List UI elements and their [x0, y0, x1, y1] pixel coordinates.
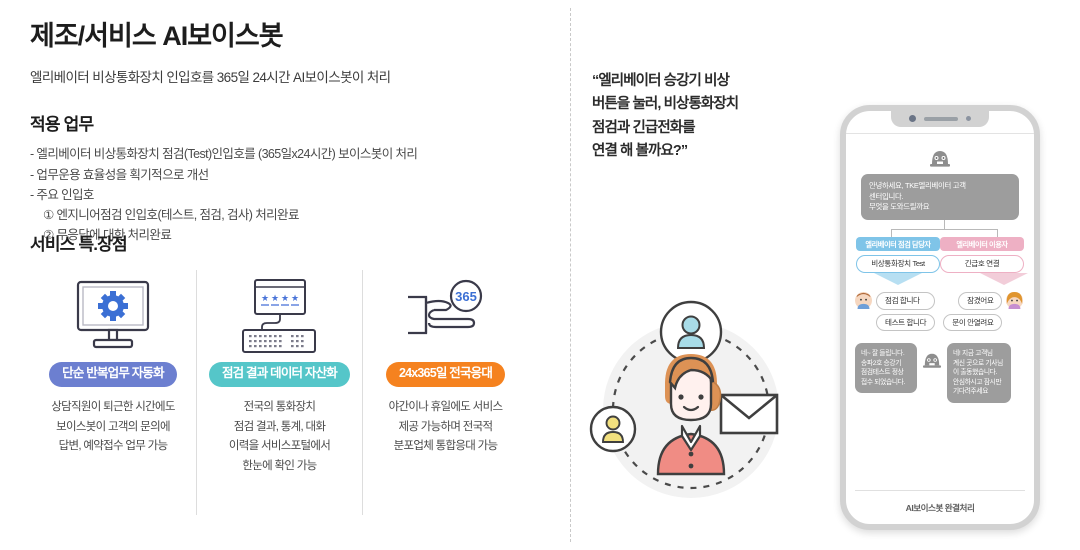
user-avatar-girl-icon — [1006, 292, 1023, 309]
branch-options: 엘리베이터 점검 담당자 비상통화장치 Test 엘리베이터 이용자 긴급호 연… — [855, 237, 1025, 273]
connector-line — [891, 229, 997, 230]
list-item: - 주요 인입호 — [30, 185, 550, 205]
svg-text:★: ★ — [261, 294, 269, 304]
quote-text: “엘리베이터 승강기 비상버튼을 눌러, 비상통화장치점검과 긴급전화를연결 해… — [592, 70, 842, 164]
agent-network-illustration — [578, 292, 808, 522]
phone-screen: 안녕하세요, TKE엘리베이터 고객센터입니다.무엇을 도와드릴까요 엘리베이터… — [846, 133, 1034, 514]
feature-description: 상담직원이 퇴근한 시간에도보이스봇이 고객의 문의에답변, 예약접수 업무 가… — [51, 398, 175, 457]
phone-notch — [891, 110, 989, 127]
message-bubble: 점검 합니다 — [876, 292, 935, 310]
inspector-messages: 점검 합니다 테스트 합니다 — [876, 292, 935, 331]
final-bubble-right: 네! 지금 고객님계신 곳으로 기사님이 출동했습니다.안심하시고 잠시만기다려… — [947, 343, 1011, 403]
feature-card-list: 단순 반복업무 자동화 상담직원이 퇴근한 시간에도보이스봇이 고객의 문의에답… — [30, 270, 530, 515]
svg-text:★: ★ — [281, 294, 289, 304]
hand-365-icon: 365 — [396, 270, 496, 362]
envelope-icon — [721, 395, 777, 433]
arrow-down-icon — [980, 273, 1028, 285]
feature-card-data-asset: ★★★★ — [196, 270, 362, 515]
left-column: 제조/서비스 AI보이스봇 엘리베이터 비상통화장치 인입호를 365일 24시… — [30, 20, 550, 246]
arrow-down-icon — [874, 273, 922, 285]
status-badge: 단순 반복업무 자동화 — [49, 362, 177, 387]
apply-section-heading: 적용 업무 — [30, 110, 550, 135]
connector-line — [891, 229, 892, 237]
list-item: - 업무운용 효율성을 획기적으로 개선 — [30, 165, 550, 185]
phone-mockup: 안녕하세요, TKE엘리베이터 고객센터입니다.무엇을 도와드릴까요 엘리베이터… — [840, 105, 1040, 530]
list-item: ① 엔지니어점검 인입호(테스트, 점검, 검사) 처리완료 — [30, 205, 550, 225]
slide-root: 제조/서비스 AI보이스봇 엘리베이터 비상통화장치 인입호를 365일 24시… — [0, 0, 1080, 550]
feature-description: 야간이나 휴일에도 서비스제공 가능하며 전국적분포업체 통합응대 가능 — [389, 398, 503, 457]
camera-icon — [909, 115, 916, 122]
vertical-divider — [570, 8, 571, 542]
branch-left: 엘리베이터 점검 담당자 비상통화장치 Test — [856, 237, 940, 273]
connector-line — [997, 229, 998, 237]
option-button-test[interactable]: 비상통화장치 Test — [856, 255, 940, 273]
page-title: 제조/서비스 AI보이스봇 — [30, 20, 550, 52]
bot-avatar-icon — [922, 351, 942, 369]
flow-arrows — [855, 273, 1025, 289]
bot-avatar-icon — [855, 148, 1025, 168]
role-tag-inspector: 엘리베이터 점검 담당자 — [856, 237, 940, 251]
user-messages: 잠겼어요 문이 안열려요 — [943, 292, 1002, 331]
branch-connector — [855, 220, 1025, 237]
svg-text:★: ★ — [271, 294, 279, 304]
final-bubble-left: 네~ 잘 들립니다.송파2호 승강기점검테스트 정상접수 되었습니다. — [855, 343, 917, 393]
option-button-emergency[interactable]: 긴급호 연결 — [940, 255, 1024, 273]
final-response-row: 네~ 잘 들립니다.송파2호 승강기점검테스트 정상접수 되었습니다. 네! 지… — [855, 343, 1025, 403]
list-item: - 엘리베이터 비상통화장치 점검(Test)인입호를 (365일x24시간) … — [30, 144, 550, 164]
branch-right: 엘리베이터 이용자 긴급호 연결 — [940, 237, 1024, 273]
monitor-gear-icon — [70, 270, 156, 362]
feature-card-24x365: 365 24x365일 전국응대 야간이나 휴일에도 서비스제공 가능하며 전국… — [362, 270, 528, 515]
user-messages-row: 점검 합니다 테스트 합니다 잠겼어요 문이 안열려요 — [855, 292, 1025, 331]
bot-greeting-bubble: 안녕하세요, TKE엘리베이터 고객센터입니다.무엇을 도와드릴까요 — [861, 174, 1019, 220]
sensor-icon — [966, 116, 971, 121]
page-subtitle: 엘리베이터 비상통화장치 인입호를 365일 24시간 AI보이스봇이 처리 — [30, 66, 550, 86]
phone-footer-label: AI보이스봇 완결처리 — [855, 490, 1025, 514]
monitor-keyboard-icon: ★★★★ — [235, 270, 325, 362]
feature-card-automation: 단순 반복업무 자동화 상담직원이 퇴근한 시간에도보이스봇이 고객의 문의에답… — [30, 270, 196, 515]
message-bubble: 테스트 합니다 — [876, 314, 935, 332]
message-bubble: 문이 안열려요 — [943, 314, 1002, 332]
feature-description: 전국의 통화장치점검 결과, 통계, 대화이력을 서비스포털에서한눈에 확인 가… — [229, 398, 330, 477]
status-badge: 24x365일 전국응대 — [386, 362, 505, 387]
speaker-icon — [924, 117, 958, 121]
connector-line — [944, 220, 945, 229]
message-bubble: 잠겼어요 — [958, 292, 1002, 310]
badge-365-label: 365 — [455, 289, 477, 304]
user-avatar-boy-icon — [855, 292, 872, 309]
status-badge: 점검 결과 데이터 자산화 — [209, 362, 350, 387]
svg-text:★: ★ — [291, 294, 299, 304]
role-tag-user: 엘리베이터 이용자 — [940, 237, 1024, 251]
features-section-heading: 서비스 특.장점 — [30, 230, 127, 255]
